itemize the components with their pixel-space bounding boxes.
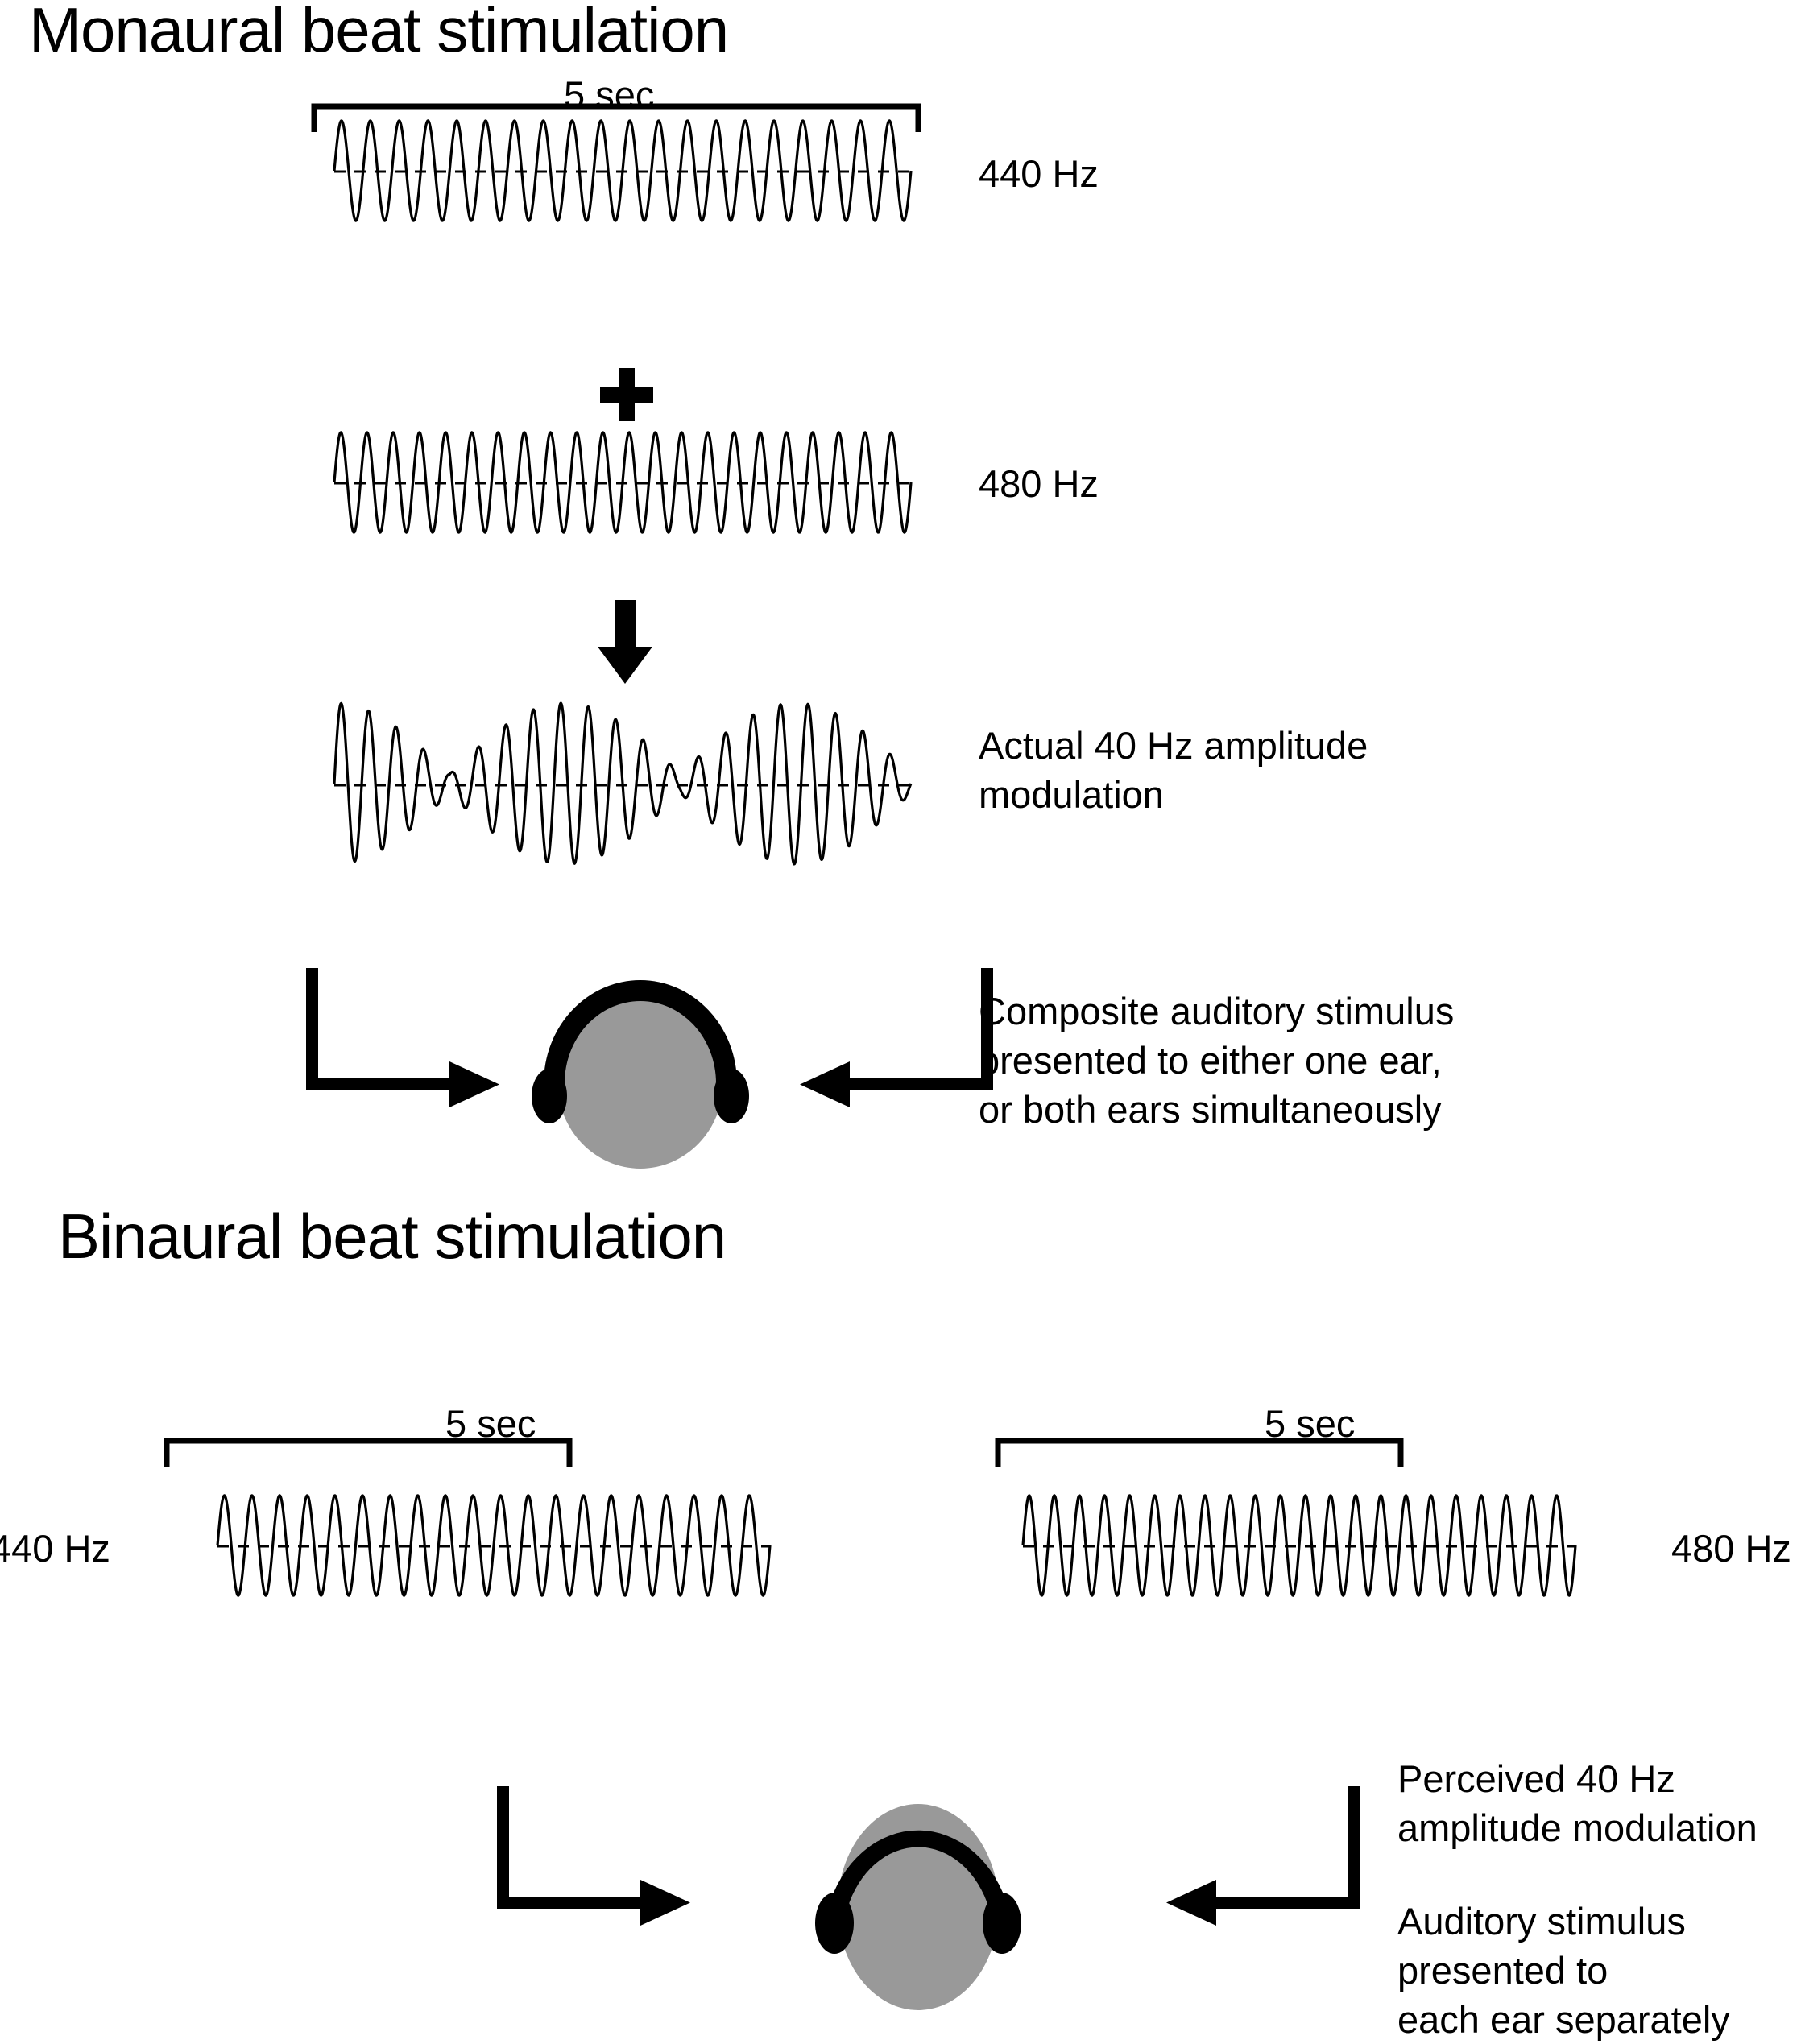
- plus-icon: [598, 366, 655, 423]
- headphone-head-monaural-icon: [528, 962, 753, 1172]
- binaural-wave-440: [217, 1494, 773, 1599]
- binaural-right-duration-bracket: [995, 1438, 1406, 1486]
- binaural-delivery-note: Auditory stimulus presented to each ear …: [1397, 1897, 1730, 2044]
- binaural-left-duration-bracket: [164, 1438, 574, 1486]
- headphone-head-binaural-icon: [805, 1780, 1031, 2005]
- binaural-perceived-note: Perceived 40 Hz amplitude modulation: [1397, 1754, 1758, 1852]
- monaural-section-title: Monaural beat stimulation: [29, 0, 728, 67]
- binaural-wave-480-label: 480 Hz: [1671, 1526, 1791, 1570]
- binaural-left-arrow-icon: [495, 1786, 705, 1915]
- binaural-wave-440-label: 440 Hz: [0, 1526, 110, 1570]
- monaural-delivery-note: Composite auditory stimulus presented to…: [979, 987, 1454, 1134]
- monaural-wave-440: [334, 119, 914, 224]
- monaural-left-arrow-icon: [304, 968, 514, 1097]
- monaural-wave-480-label: 480 Hz: [979, 461, 1099, 506]
- down-arrow-icon: [594, 600, 656, 685]
- monaural-wave-480: [334, 431, 914, 536]
- binaural-wave-480: [1023, 1494, 1579, 1599]
- monaural-wave-composite-beat: [334, 701, 914, 870]
- binaural-section-title: Binaural beat stimulation: [58, 1200, 726, 1273]
- monaural-right-arrow-icon: [785, 968, 995, 1097]
- monaural-wave-440-label: 440 Hz: [979, 151, 1099, 196]
- monaural-composite-label: Actual 40 Hz amplitude modulation: [979, 721, 1368, 819]
- binaural-right-arrow-icon: [1152, 1786, 1361, 1915]
